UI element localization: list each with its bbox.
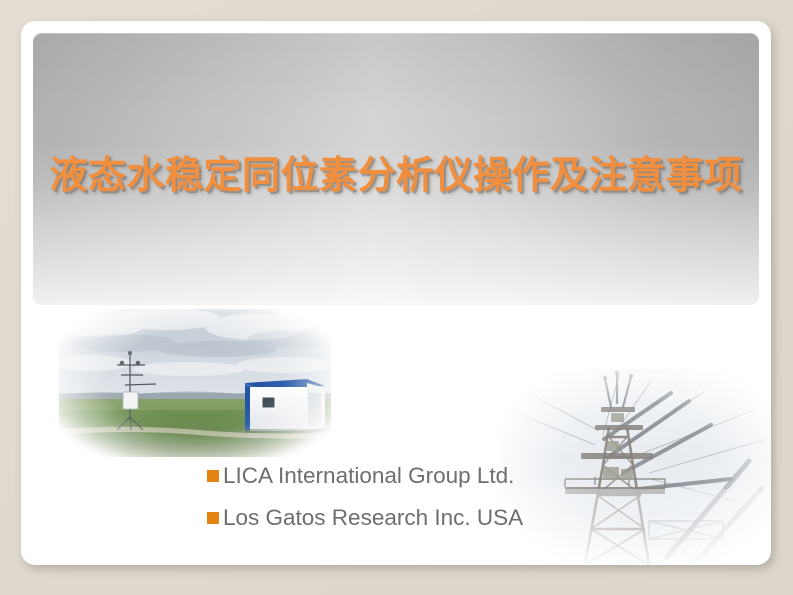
slide-title: 液态水稳定同位素分析仪操作及注意事项 [21,144,771,199]
list-item-label: Los Gatos Research Inc. USA [223,507,523,530]
list-item: LICA International Group Ltd. [207,455,627,497]
square-bullet-icon [207,512,219,524]
slide-card: 液态水稳定同位素分析仪操作及注意事项 [21,21,771,565]
presentation-canvas: 液态水稳定同位素分析仪操作及注意事项 [0,0,793,595]
square-bullet-icon [207,470,219,482]
list-item: Los Gatos Research Inc. USA [207,497,627,539]
field-station-photo [59,309,331,457]
list-item-label: LICA International Group Ltd. [223,465,514,488]
subtitle-list: LICA International Group Ltd. Los Gatos … [207,455,627,539]
